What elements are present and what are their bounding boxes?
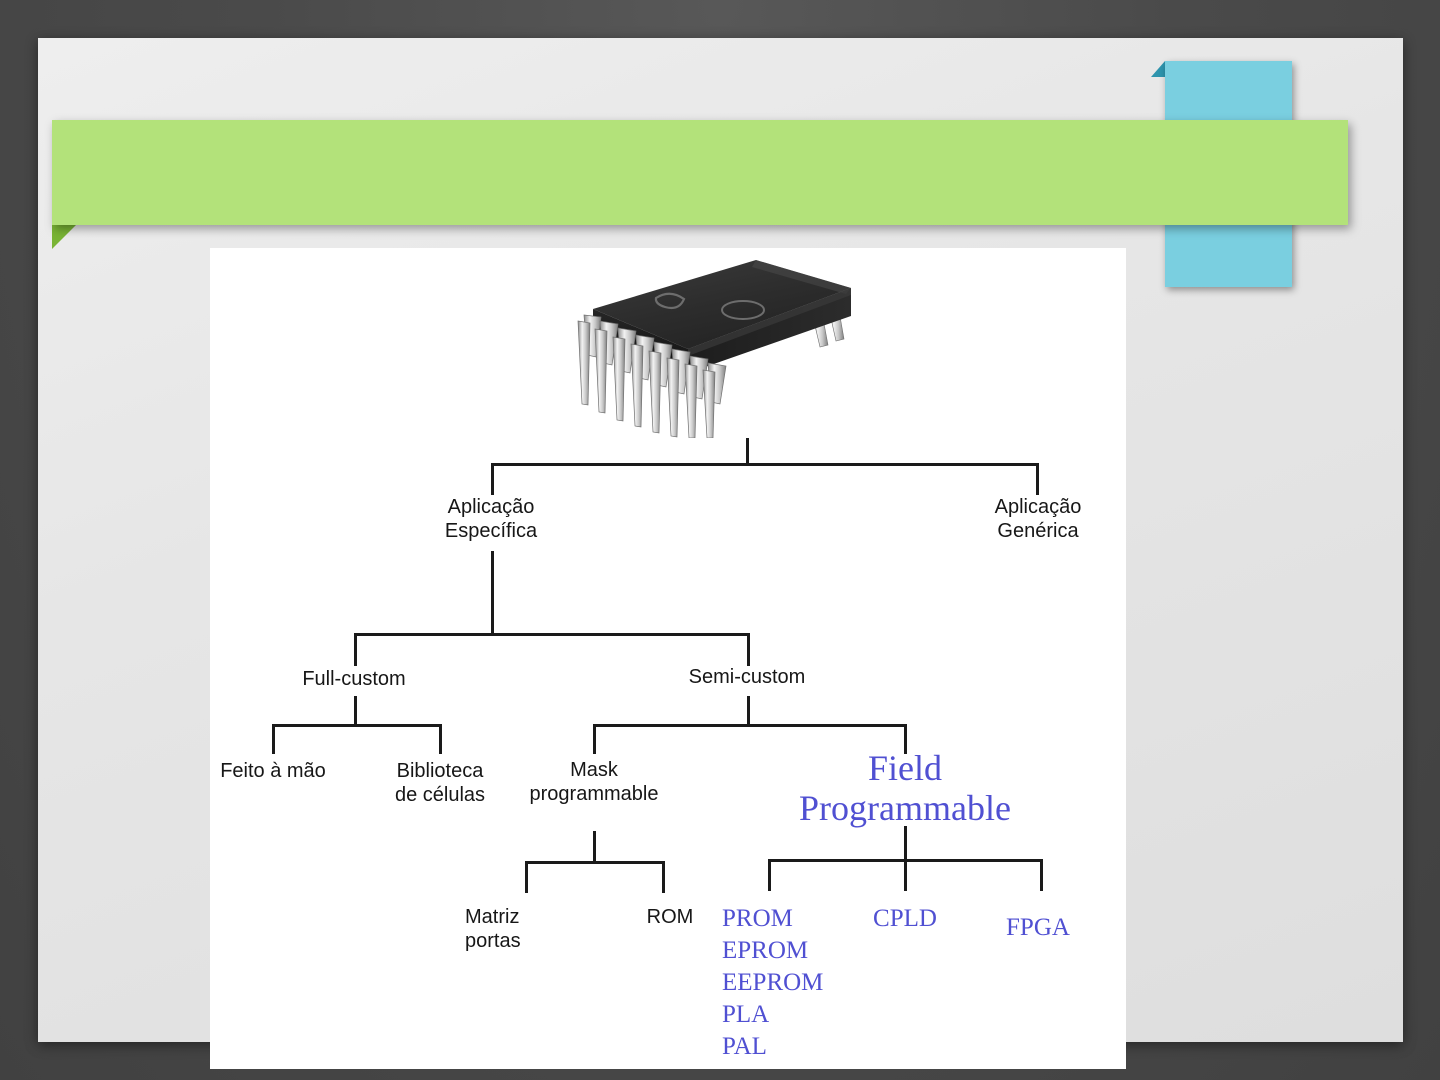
connector-semi-custom-stem <box>747 696 750 726</box>
node-semi-custom: Semi-custom <box>667 666 827 690</box>
node-mask-programmable: Mask programmable <box>519 759 669 806</box>
node-feito-a-mao: Feito à mão <box>210 760 353 784</box>
connector-level1-bar <box>491 463 1039 466</box>
slide-canvas: Aplicação Específica Aplicação Genérica … <box>38 38 1403 1042</box>
node-cpld: CPLD <box>845 904 965 934</box>
connector-drop-aplicacao-especifica <box>491 463 494 495</box>
connector-drop-biblioteca <box>439 724 442 754</box>
connector-drop-cpld <box>904 859 907 891</box>
slide-title <box>108 120 1318 225</box>
green-banner-fold-corner <box>52 225 76 249</box>
connector-full-custom-bar <box>272 724 442 727</box>
connector-drop-rom <box>662 861 665 893</box>
node-fpga: FPGA <box>978 913 1098 943</box>
connector-chip-stem <box>746 438 749 466</box>
connector-level2-bar <box>354 633 750 636</box>
blue-ribbon-fold-corner <box>1151 61 1165 77</box>
node-full-custom: Full-custom <box>274 668 434 692</box>
node-aplicacao-generica: Aplicação Genérica <box>938 496 1126 543</box>
connector-full-custom-stem <box>354 696 357 726</box>
connector-drop-prom-family <box>768 859 771 891</box>
connector-drop-semi-custom <box>747 633 750 666</box>
node-matriz-portas: Matriz portas <box>465 906 595 953</box>
node-rom: ROM <box>610 906 730 930</box>
green-title-banner <box>52 120 1348 225</box>
dip-ic-chip-icon <box>560 253 890 438</box>
connector-mask-bar <box>525 861 665 864</box>
presentation-frame: Aplicação Específica Aplicação Genérica … <box>0 0 1440 1080</box>
node-aplicacao-especifica: Aplicação Específica <box>391 496 591 543</box>
connector-drop-fpga <box>1040 859 1043 891</box>
diagram-image-panel: Aplicação Específica Aplicação Genérica … <box>210 248 1126 1069</box>
connector-drop-mask-programmable <box>593 724 596 754</box>
connector-drop-feito-a-mao <box>272 724 275 754</box>
connector-semi-custom-bar <box>593 724 907 727</box>
connector-drop-aplicacao-generica <box>1036 463 1039 495</box>
connector-mask-stem <box>593 831 596 863</box>
connector-drop-matriz-portas <box>525 861 528 893</box>
node-biblioteca-de-celulas: Biblioteca de células <box>360 760 520 807</box>
connector-especifica-stem <box>491 551 494 635</box>
node-field-programmable: Field Programmable <box>771 748 1039 829</box>
connector-drop-full-custom <box>354 633 357 666</box>
